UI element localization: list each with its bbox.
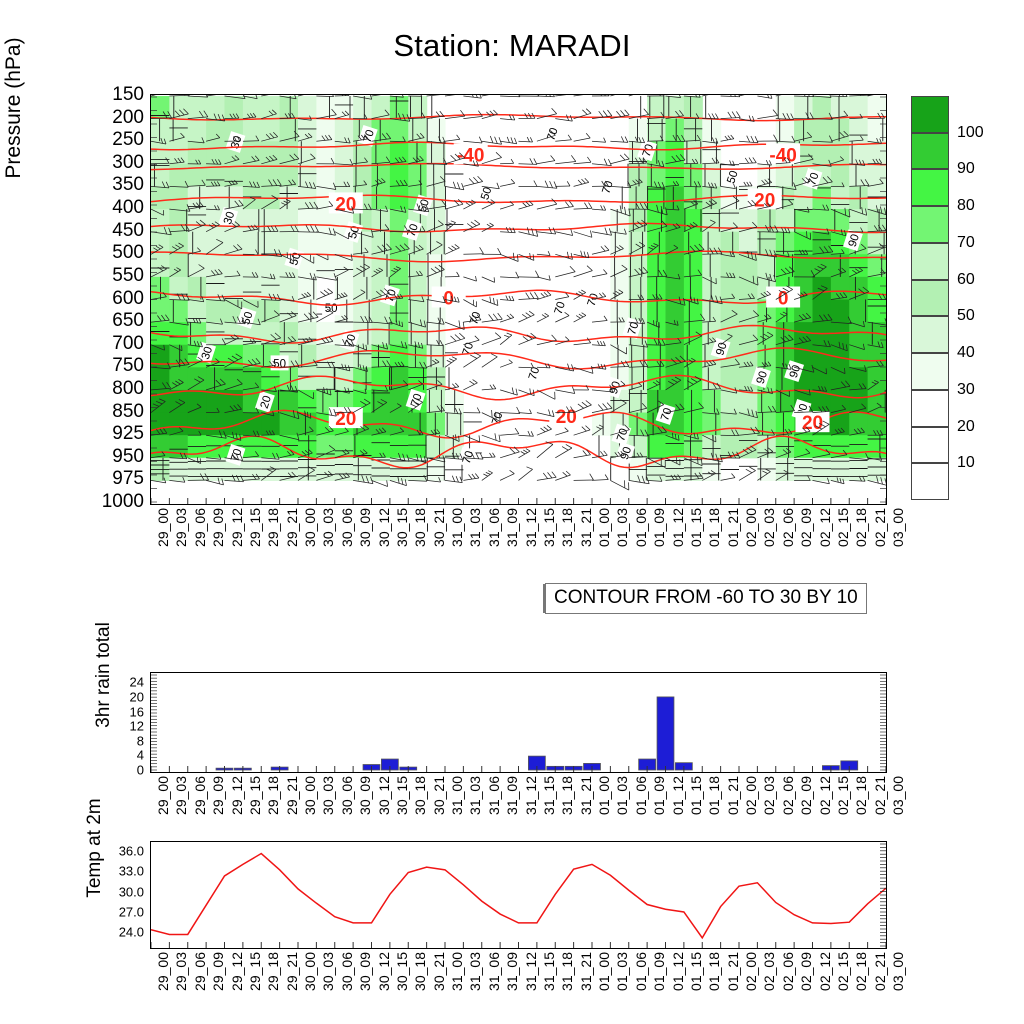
svg-text:20: 20 [754, 190, 775, 211]
x-tick-label: 30_06 [339, 952, 355, 991]
x-tick-label: 02_15 [835, 508, 851, 547]
x-tick-label: 01_15 [688, 508, 704, 547]
x-tick-label: 31_03 [467, 508, 483, 547]
temp-panel-y-ticks: Temp at 2m 24.027.030.033.036.0 [86, 841, 144, 949]
pressure-tick-label: 150 [84, 84, 144, 106]
colorbar-tick-label: 60 [957, 271, 975, 289]
x-tick-label: 30_18 [412, 776, 428, 815]
x-tick-label: 29_21 [284, 952, 300, 991]
x-tick-label: 01_12 [670, 508, 686, 547]
colorbar-tick-label: 90 [957, 160, 975, 178]
svg-text:-40: -40 [457, 145, 484, 166]
x-tick-label: 30_00 [302, 952, 318, 991]
pressure-tick-label: 400 [84, 197, 144, 219]
x-tick-label: 30_15 [394, 508, 410, 547]
svg-text:20: 20 [556, 407, 577, 428]
x-tick-label: 02_00 [743, 776, 759, 815]
x-tick-label: 01_06 [633, 508, 649, 547]
x-tick-label: 02_06 [780, 508, 796, 547]
colorbar-swatch [911, 280, 949, 317]
x-tick-label: 31_12 [523, 508, 539, 547]
x-tick-label: 01_06 [633, 776, 649, 815]
x-tick-label: 31_15 [541, 776, 557, 815]
x-tick-label: 01_18 [706, 508, 722, 547]
x-tick-label: 02_18 [853, 776, 869, 815]
colorbar-tick-label: 80 [957, 197, 975, 215]
x-tick-label: 31_06 [486, 776, 502, 815]
x-tick-label: 30_09 [357, 952, 373, 991]
x-tick-label: 02_06 [780, 952, 796, 991]
x-tick-label: 29_06 [192, 776, 208, 815]
contour-legend-box: CONTOUR FROM -60 TO 30 BY 10 [545, 583, 867, 614]
x-tick-label: 30_03 [320, 776, 336, 815]
temp-tick-label: 27.0 [88, 905, 144, 920]
x-tick-label: 29_03 [173, 508, 189, 547]
x-tick-label: 31_18 [559, 776, 575, 815]
x-tick-label: 31_03 [467, 952, 483, 991]
x-tick-label: 30_15 [394, 776, 410, 815]
x-tick-label: 29_15 [247, 952, 263, 991]
x-tick-label: 01_09 [651, 952, 667, 991]
x-tick-label: 31_15 [541, 952, 557, 991]
x-tick-label: 02_15 [835, 952, 851, 991]
x-tick-label: 29_18 [265, 776, 281, 815]
x-tick-label: 02_12 [817, 508, 833, 547]
x-tick-label: 30_18 [412, 508, 428, 547]
page-title: Station: MARADI [0, 28, 1024, 64]
colorbar-tick-label: 50 [957, 307, 975, 325]
relative-humidity-contour-chart: 3070703050505070507050707090505070707070… [151, 95, 886, 504]
x-tick-label: 30_00 [302, 776, 318, 815]
x-tick-label: 01_00 [596, 776, 612, 815]
x-tick-label: 30_09 [357, 776, 373, 815]
temp-panel: 29_0029_0329_0629_0929_1229_1529_1829_21… [150, 841, 887, 949]
main-plot-area: 3070703050505070507050707090505070707070… [150, 94, 887, 505]
x-tick-label: 02_09 [798, 776, 814, 815]
x-tick-label: 31_18 [559, 952, 575, 991]
x-tick-label: 29_09 [210, 952, 226, 991]
temp-tick-label: 36.0 [88, 843, 144, 858]
pressure-tick-label: 450 [84, 220, 144, 242]
x-tick-label: 30_03 [320, 952, 336, 991]
colorbar-swatch [911, 243, 949, 280]
x-tick-label: 29_18 [265, 508, 281, 547]
x-tick-label: 29_06 [192, 508, 208, 547]
x-tick-label: 31_21 [578, 952, 594, 991]
colorbar-swatch [911, 463, 949, 500]
x-tick-label: 02_09 [798, 952, 814, 991]
temp-tick-label: 24.0 [88, 925, 144, 940]
x-tick-label: 31_00 [449, 776, 465, 815]
pressure-tick-label: 700 [84, 333, 144, 355]
pressure-tick-label: 800 [84, 378, 144, 400]
x-tick-label: 30_18 [412, 952, 428, 991]
pressure-tick-label: 600 [84, 288, 144, 310]
svg-text:0: 0 [778, 289, 789, 310]
rain-tick-label: 12 [98, 719, 144, 734]
pressure-tick-label: 1000 [84, 491, 144, 513]
x-tick-label: 30_00 [302, 508, 318, 547]
pressure-tick-label: 850 [84, 401, 144, 423]
pressure-tick-label: 200 [84, 107, 144, 129]
x-tick-label: 29_15 [247, 508, 263, 547]
rain-tick-label: 24 [98, 675, 144, 690]
colorbar-swatch [911, 133, 949, 170]
x-tick-label: 30_06 [339, 776, 355, 815]
pressure-tick-label: 750 [84, 355, 144, 377]
temp-tick-label: 30.0 [88, 884, 144, 899]
x-tick-label: 29_00 [155, 508, 171, 547]
main-panel-x-tick-labels: 29_0029_0329_0629_0929_1229_1529_1829_21… [150, 508, 887, 570]
pressure-tick-label: 550 [84, 265, 144, 287]
x-tick-label: 02_03 [761, 952, 777, 991]
pressure-tick-label: 950 [84, 446, 144, 468]
x-tick-label: 31_15 [541, 508, 557, 547]
x-tick-label: 29_18 [265, 952, 281, 991]
x-tick-label: 31_03 [467, 776, 483, 815]
x-tick-label: 30_12 [376, 776, 392, 815]
x-tick-label: 01_03 [614, 508, 630, 547]
x-tick-label: 02_12 [817, 776, 833, 815]
x-tick-label: 30_03 [320, 508, 336, 547]
rain-bar-chart [151, 673, 886, 772]
x-tick-label: 02_12 [817, 952, 833, 991]
x-tick-label: 29_21 [284, 508, 300, 547]
relative-humidity-colorbar: 100908070605040302010 [911, 96, 949, 500]
x-tick-label: 31_09 [504, 508, 520, 547]
x-tick-label: 01_15 [688, 776, 704, 815]
x-tick-label: 01_09 [651, 508, 667, 547]
pressure-tick-label: 975 [84, 468, 144, 490]
x-tick-label: 29_09 [210, 776, 226, 815]
x-tick-label: 01_09 [651, 776, 667, 815]
x-tick-label: 02_18 [853, 952, 869, 991]
x-tick-label: 31_06 [486, 508, 502, 547]
x-tick-label: 29_00 [155, 776, 171, 815]
x-tick-label: 29_03 [173, 776, 189, 815]
x-tick-label: 31_06 [486, 952, 502, 991]
x-tick-label: 31_18 [559, 508, 575, 547]
x-tick-label: 31_12 [523, 776, 539, 815]
x-tick-label: 30_21 [431, 952, 447, 991]
x-tick-label: 29_12 [229, 952, 245, 991]
x-tick-label: 30_15 [394, 952, 410, 991]
x-tick-label: 03_00 [890, 776, 906, 815]
colorbar-swatch [911, 96, 949, 133]
x-tick-label: 01_21 [725, 508, 741, 547]
x-tick-label: 01_00 [596, 508, 612, 547]
x-tick-label: 31_21 [578, 776, 594, 815]
x-tick-label: 30_21 [431, 776, 447, 815]
x-tick-label: 29_12 [229, 508, 245, 547]
colorbar-swatch [911, 390, 949, 427]
x-tick-label: 29_06 [192, 952, 208, 991]
x-tick-label: 29_21 [284, 776, 300, 815]
x-tick-label: 30_09 [357, 508, 373, 547]
x-tick-label: 01_18 [706, 952, 722, 991]
x-tick-label: 31_21 [578, 508, 594, 547]
x-tick-label: 02_18 [853, 508, 869, 547]
x-tick-label: 30_06 [339, 508, 355, 547]
colorbar-tick-label: 10 [957, 454, 975, 472]
x-tick-label: 29_15 [247, 776, 263, 815]
rain-tick-label: 16 [98, 704, 144, 719]
x-tick-label: 02_09 [798, 508, 814, 547]
x-tick-label: 30_12 [376, 952, 392, 991]
pressure-tick-label: 250 [84, 129, 144, 151]
x-tick-label: 29_00 [155, 952, 171, 991]
x-tick-label: 31_00 [449, 508, 465, 547]
x-tick-label: 29_03 [173, 952, 189, 991]
x-tick-label: 01_06 [633, 952, 649, 991]
x-tick-label: 30_12 [376, 508, 392, 547]
x-tick-label: 29_09 [210, 508, 226, 547]
x-tick-label: 03_00 [890, 508, 906, 547]
pressure-tick-label: 300 [84, 152, 144, 174]
x-tick-label: 31_09 [504, 776, 520, 815]
x-tick-label: 01_12 [670, 776, 686, 815]
x-tick-label: 02_00 [743, 952, 759, 991]
colorbar-swatch [911, 353, 949, 390]
colorbar-tick-label: 30 [957, 381, 975, 399]
pressure-tick-label: 500 [84, 242, 144, 264]
x-tick-label: 01_18 [706, 776, 722, 815]
colorbar-tick-label: 40 [957, 344, 975, 362]
rain-panel: 29_0029_0329_0629_0929_1229_1529_1829_21… [150, 672, 887, 773]
x-tick-label: 02_21 [872, 508, 888, 547]
x-tick-label: 01_03 [614, 952, 630, 991]
temp-panel-x-tick-labels: 29_0029_0329_0629_0929_1229_1529_1829_21… [150, 952, 887, 1014]
x-tick-label: 31_00 [449, 952, 465, 991]
x-tick-label: 02_21 [872, 952, 888, 991]
x-tick-label: 02_21 [872, 776, 888, 815]
x-tick-label: 02_03 [761, 508, 777, 547]
x-tick-label: 01_21 [725, 776, 741, 815]
pressure-tick-label: 925 [84, 423, 144, 445]
x-tick-label: 01_12 [670, 952, 686, 991]
pressure-tick-label: 350 [84, 174, 144, 196]
rain-plot-area [150, 672, 887, 773]
temperature-line-chart [151, 842, 886, 948]
rain-panel-x-tick-labels: 29_0029_0329_0629_0929_1229_1529_1829_21… [150, 776, 887, 838]
x-tick-label: 03_00 [890, 952, 906, 991]
x-tick-label: 01_03 [614, 776, 630, 815]
rain-tick-label: 20 [98, 689, 144, 704]
temp-plot-area [150, 841, 887, 949]
main-panel-y-ticks: 1502002503003504004505005506006507007508… [78, 94, 144, 505]
x-tick-label: 29_12 [229, 776, 245, 815]
temp-tick-label: 33.0 [88, 864, 144, 879]
main-panel-y-axis-label: Pressure (hPa) [2, 0, 26, 218]
colorbar-tick-label: 20 [957, 418, 975, 436]
x-tick-label: 01_15 [688, 952, 704, 991]
colorbar-swatch [911, 316, 949, 353]
colorbar-swatch [911, 169, 949, 206]
x-tick-label: 01_21 [725, 952, 741, 991]
main-meteogram-panel: 3070703050505070507050707090505070707070… [150, 94, 887, 505]
colorbar-tick-label: 70 [957, 234, 975, 252]
x-tick-label: 02_03 [761, 776, 777, 815]
colorbar-tick-label: 100 [957, 124, 984, 142]
colorbar-swatch [911, 427, 949, 464]
x-tick-label: 01_00 [596, 952, 612, 991]
pressure-tick-label: 650 [84, 310, 144, 332]
x-tick-label: 31_09 [504, 952, 520, 991]
x-tick-label: 02_06 [780, 776, 796, 815]
x-tick-label: 02_00 [743, 508, 759, 547]
colorbar-swatch [911, 206, 949, 243]
x-tick-label: 31_12 [523, 952, 539, 991]
x-tick-label: 02_15 [835, 776, 851, 815]
x-tick-label: 30_21 [431, 508, 447, 547]
